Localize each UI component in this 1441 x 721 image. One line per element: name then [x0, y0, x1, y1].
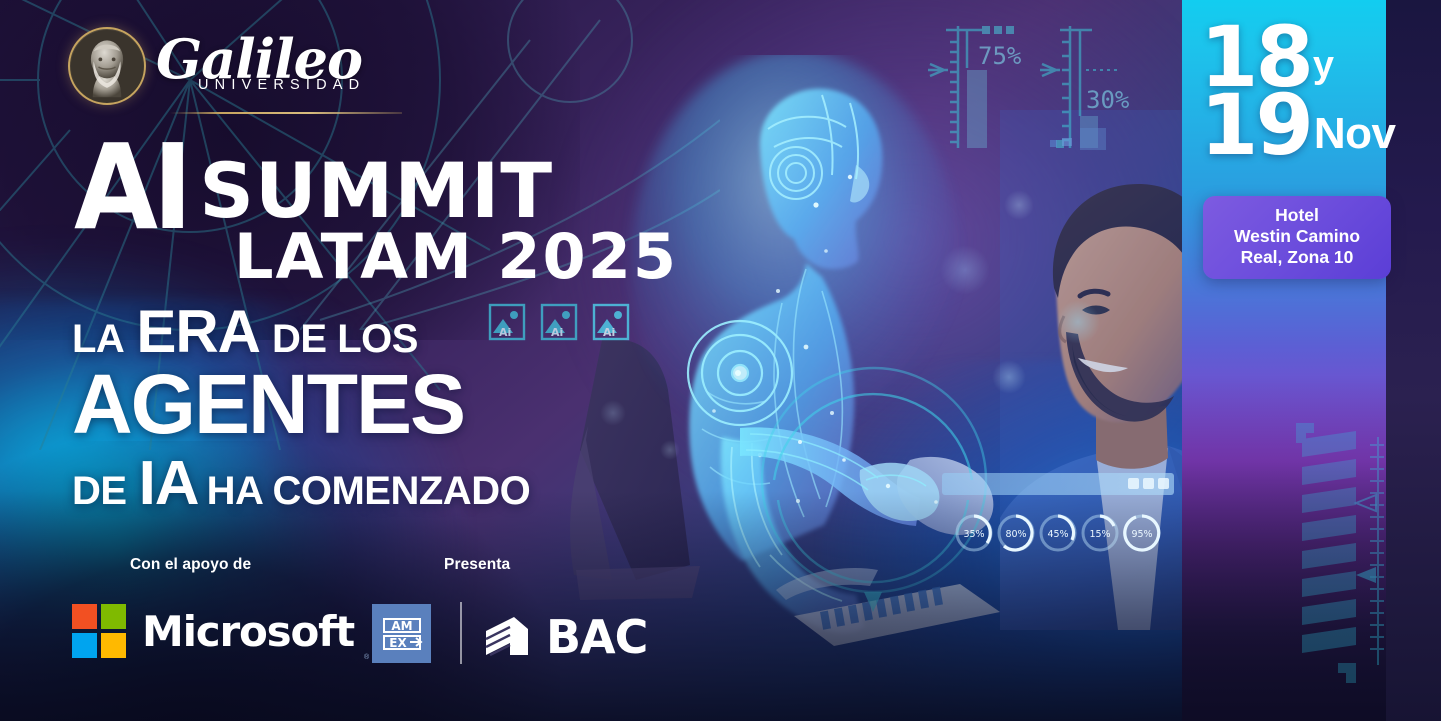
circle-gauge-value: 15% [1089, 529, 1110, 540]
date-conjunction: y [1313, 42, 1334, 88]
sponsor-divider [460, 602, 462, 664]
microsoft-logo: Microsoft [72, 604, 354, 658]
tagline-la: LA [72, 317, 124, 362]
amex-bottom-text: EX [389, 636, 407, 650]
amex-mark-icon: AM EX [380, 615, 424, 653]
gauge-2-value: 30% [1086, 86, 1130, 114]
amex-logo: AM EX ® [372, 604, 431, 663]
bac-logo: BAC [484, 610, 647, 664]
bac-name: BAC [546, 610, 647, 664]
bac-mark-icon [484, 615, 534, 659]
stripes-ruler-decor [1290, 415, 1400, 705]
venue-line-3: Real, Zona 10 [1211, 247, 1383, 268]
support-label: Con el apoyo de [130, 556, 251, 574]
date-block: 18 y 19 Nov [1200, 20, 1415, 162]
circle-gauge-value: 35% [963, 529, 984, 540]
galileo-logo: Galileo UNIVERSIDAD [68, 27, 365, 105]
tagline-ha-comenzado: HA COMENZADO [207, 469, 531, 514]
venue-line-1: Hotel [1211, 205, 1383, 226]
screen-panel-dots [1128, 478, 1169, 489]
tagline-de: DE [72, 469, 127, 514]
presents-label: Presenta [444, 556, 510, 574]
sponsors-section: Con el apoyo de Presenta Microsoft [72, 556, 632, 674]
title-ai: AI [74, 138, 187, 236]
pixel-squares-decor [1050, 126, 1120, 156]
gauge-1-value: 75% [978, 42, 1022, 70]
title-summit: SUMMIT [199, 152, 553, 230]
tagline: LA ERA DE LOS AGENTES DE IA HA COMENZADO [72, 297, 530, 519]
amex-top-text: AM [391, 619, 412, 633]
circle-gauge-value: 80% [1005, 529, 1026, 540]
logo-underline [170, 112, 402, 114]
circular-gauges-group: 35% 80% 45% 15% 95% [950, 510, 1166, 556]
ai-icon-label: Ai [551, 326, 563, 339]
date-day-2: 19 [1200, 88, 1311, 162]
galileo-bust-icon [68, 27, 146, 105]
ai-image-icon: Ai [540, 303, 578, 341]
university-subtitle: UNIVERSIDAD [198, 77, 365, 93]
venue-line-2: Westin Camino [1211, 226, 1383, 247]
ai-image-icon: Ai [592, 303, 630, 341]
microsoft-name: Microsoft [142, 607, 354, 656]
date-row-2: 19 Nov [1200, 88, 1415, 162]
tagline-ia: IA [139, 448, 199, 519]
event-banner: 75% 30% Ai Ai [0, 0, 1441, 721]
ai-icon-label: Ai [603, 326, 615, 339]
title-latam-year: LATAM 2025 [234, 226, 678, 288]
circle-gauge-value: 45% [1047, 529, 1068, 540]
date-month: Nov [1314, 110, 1396, 158]
hud-bar-gauges: 75% 30% [910, 8, 1180, 158]
circle-gauge-value: 95% [1131, 529, 1152, 540]
tagline-era: ERA [136, 297, 260, 366]
venue-badge: Hotel Westin Camino Real, Zona 10 [1203, 196, 1391, 279]
amex-registered-mark: ® [364, 654, 369, 661]
microsoft-squares-icon [72, 604, 126, 658]
tagline-agentes: AGENTES [72, 362, 530, 446]
event-title: AI SUMMIT LATAM 2025 [74, 138, 678, 288]
tagline-de-los: DE LOS [272, 317, 418, 362]
